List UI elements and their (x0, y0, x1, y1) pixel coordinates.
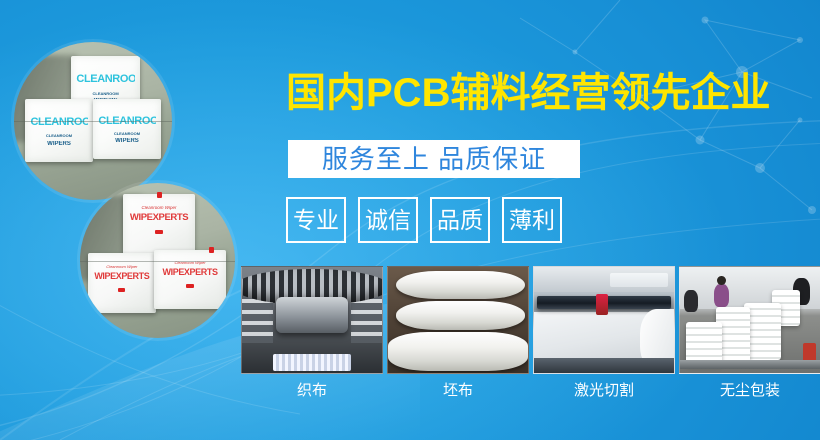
pack-brand: WIPEXPERTS (93, 272, 150, 281)
product-pack: CLEANROOM CLEANROOM WIPERS (93, 99, 161, 159)
worker-figure (714, 284, 729, 307)
machine-base (534, 358, 674, 373)
product-photo-cleanroom-wipes: CLEANROOM CLEANROOM WIPERS CLEANROOM CLE… (14, 42, 172, 200)
photo-scene: Cleanroom Wiper WIPEXPERTS Cleanroom Wip… (80, 183, 235, 338)
pack-subtitle-1: Cleanroom Wiper (88, 265, 156, 269)
process-item-cleanroom-packing: 无尘包装 (679, 266, 820, 398)
photo-scene: CLEANROOM CLEANROOM WIPERS CLEANROOM CLE… (14, 42, 172, 200)
pack-subtitle-2: WIPERS (25, 141, 93, 147)
process-photo-knitting-machine (241, 266, 383, 374)
feature-tag-quality: 品质 (430, 197, 490, 243)
process-item-weaving: 织布 (241, 266, 383, 398)
pack-subtitle-1: CLEANROOM (25, 134, 93, 138)
process-caption: 激光切割 (533, 383, 675, 398)
feature-tag-label: 薄利 (509, 209, 555, 232)
wipe-stack (686, 322, 722, 364)
worker-figure (684, 290, 698, 311)
pack-subtitle-1: Cleanroom Wiper (154, 261, 225, 265)
feature-tag-professional: 专业 (286, 197, 346, 243)
pack-brand: CLEANROOM (98, 116, 155, 127)
process-caption: 坯布 (387, 383, 529, 398)
headline: 国内PCB辅料经营领先企业 (286, 73, 786, 113)
machine-drum (276, 297, 349, 333)
feature-tag-list: 专业 诚信 品质 薄利 (286, 197, 562, 243)
process-item-greige-fabric: 坯布 (387, 266, 529, 398)
process-caption: 织布 (241, 383, 383, 398)
pack-red-mark (157, 192, 162, 198)
work-table (680, 360, 820, 368)
pack-brand: WIPEXPERTS (160, 268, 220, 277)
laser-head (596, 294, 609, 315)
pack-red-mark (209, 247, 214, 252)
feature-tag-label: 诚信 (365, 209, 411, 232)
pack-subtitle-1: CLEANROOM (93, 132, 161, 136)
process-photo-fabric-rolls (387, 266, 529, 374)
subheadline-bar: 服务至上 品质保证 (288, 140, 580, 178)
process-photo-laser-cutter (533, 266, 675, 374)
feature-tag-label: 品质 (437, 209, 483, 232)
pack-red-mark (155, 230, 162, 235)
product-pack: Cleanroom Wiper WIPEXPERTS (154, 250, 225, 309)
pack-subtitle-1: Cleanroom Wiper (123, 206, 194, 211)
pack-brand: CLEANROOM (76, 74, 134, 85)
product-pack: Cleanroom Wiper WIPEXPERTS (88, 253, 156, 313)
fabric-roll (396, 271, 525, 299)
feature-tag-label: 专业 (293, 209, 339, 232)
process-photo-packing-line (679, 266, 820, 374)
pack-subtitle-2: WIPERS (93, 138, 161, 144)
feature-tag-low-margin: 薄利 (502, 197, 562, 243)
product-pack: CLEANROOM CLEANROOM WIPERS (25, 99, 93, 162)
feature-tag-integrity: 诚信 (358, 197, 418, 243)
pack-red-mark (186, 284, 193, 288)
process-item-laser-cutting: 激光切割 (533, 266, 675, 398)
fabric-roll (396, 301, 525, 330)
product-photo-wipexperts: Cleanroom Wiper WIPEXPERTS Cleanroom Wip… (80, 183, 235, 338)
subheadline-text: 服务至上 品质保证 (322, 146, 546, 172)
stacked-sheet (610, 273, 669, 287)
knitted-fabric (273, 354, 351, 371)
pack-red-mark (118, 288, 125, 292)
pack-subtitle-1: CLEANROOM (71, 92, 141, 96)
pack-brand: WIPEXPERTS (129, 213, 189, 223)
process-photo-strip: 织布 坯布 激光切割 (241, 266, 818, 398)
promo-banner: CLEANROOM CLEANROOM WIPERS CLEANROOM CLE… (0, 0, 820, 440)
process-caption: 无尘包装 (679, 383, 820, 398)
fabric-roll (388, 332, 528, 371)
pack-brand: CLEANROOM (30, 117, 87, 128)
